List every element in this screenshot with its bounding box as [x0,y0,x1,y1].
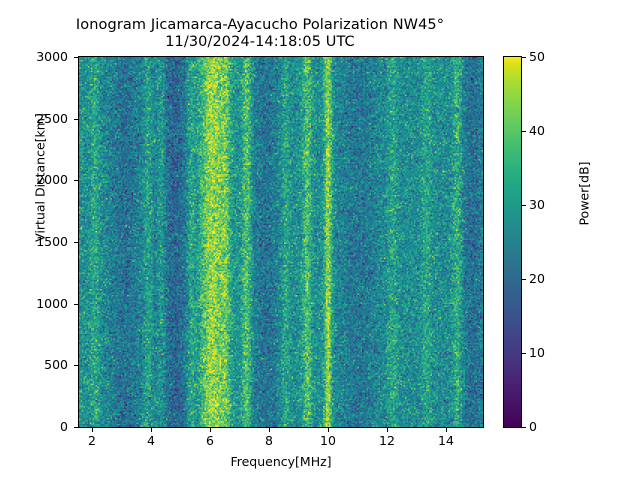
x-axis-label: Frequency[MHz] [78,454,484,469]
colorbar-gradient [504,57,521,427]
x-tick-mark [446,428,447,432]
x-tick-mark [151,428,152,432]
colorbar-tick-mark [522,279,526,280]
x-tick-mark [387,428,388,432]
x-tick-label: 14 [426,434,466,448]
x-tick-label: 8 [249,434,289,448]
colorbar-tick-label: 10 [529,347,545,360]
x-tick-mark [328,428,329,432]
colorbar-tick-mark [522,57,526,58]
colorbar-label: Power[dB] [577,94,592,294]
x-tick-mark [269,428,270,432]
y-tick-label: 1000 [36,298,68,311]
colorbar-tick-label: 40 [529,125,545,138]
colorbar-tick-mark [522,353,526,354]
ionogram-figure: Ionogram Jicamarca-Ayacucho Polarization… [0,0,640,480]
x-tick-label: 4 [131,434,171,448]
colorbar-tick-label: 30 [529,199,545,212]
ionogram-heatmap [79,57,483,427]
y-axis-label: Virtual Distance[km] [33,58,48,298]
x-tick-mark [210,428,211,432]
colorbar-tick-mark [522,131,526,132]
colorbar-tick-mark [522,205,526,206]
y-tick-mark [74,242,78,243]
y-tick-mark [74,57,78,58]
x-tick-label: 10 [308,434,348,448]
ionogram-plot-area [78,56,484,428]
x-tick-mark [92,428,93,432]
colorbar-tick-label: 20 [529,273,545,286]
y-tick-mark [74,180,78,181]
y-tick-mark [74,427,78,428]
chart-title: Ionogram Jicamarca-Ayacucho Polarization… [0,17,520,51]
colorbar-tick-mark [522,427,526,428]
y-tick-label: 0 [60,421,68,434]
x-tick-label: 2 [72,434,112,448]
chart-title-line-1: Ionogram Jicamarca-Ayacucho Polarization… [0,17,520,34]
colorbar [503,56,522,428]
x-tick-label: 12 [367,434,407,448]
x-tick-label: 6 [190,434,230,448]
y-tick-mark [74,304,78,305]
chart-title-line-2: 11/30/2024-14:18:05 UTC [0,34,520,51]
y-tick-mark [74,365,78,366]
colorbar-tick-label: 50 [529,51,545,64]
y-tick-label: 500 [44,359,68,372]
colorbar-tick-label: 0 [529,421,537,434]
y-tick-mark [74,119,78,120]
